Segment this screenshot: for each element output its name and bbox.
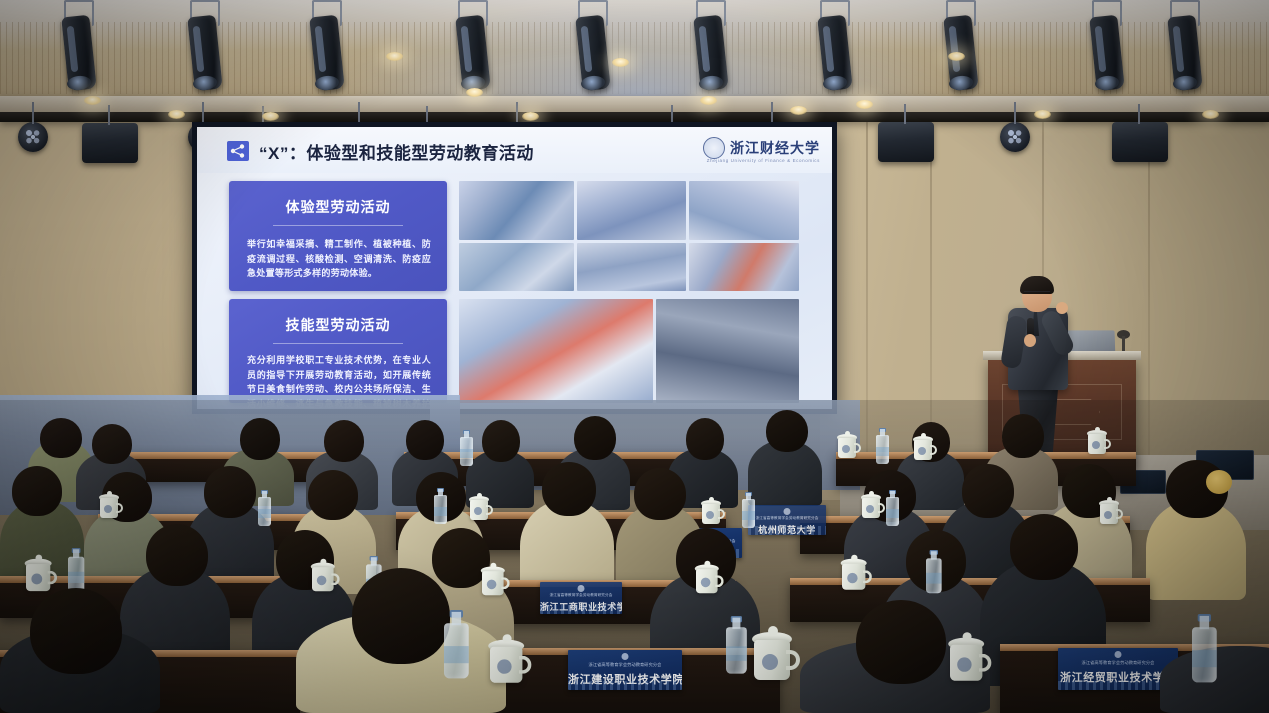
plate-skyline-graphic [540, 605, 622, 614]
water-bottle [742, 492, 755, 528]
speaker-hand [1024, 334, 1036, 347]
audience-head [406, 420, 444, 460]
slide-card-experiential: 体验型劳动活动 举行如幸福采摘、精工制作、植被种植、防疫流调过程、核酸检测、空调… [229, 181, 447, 291]
stage-spotlight-icon [456, 0, 490, 92]
stage-spotlight-icon [694, 0, 728, 92]
stage-spotlight-icon [310, 0, 344, 92]
tea-cup-foreground [490, 636, 530, 683]
audience-head [204, 466, 256, 518]
card-title: 技能型劳动活动 [229, 315, 447, 335]
slide-title: “X”：体验型和技能型劳动教育活动 [259, 139, 534, 164]
presentation-slide: “X”：体验型和技能型劳动教育活动 浙江财经大学 Zhejiang Univer… [197, 127, 832, 409]
tea-cup [914, 434, 936, 460]
slide-photo [459, 299, 653, 403]
audience-head [92, 424, 132, 464]
stage-spotlight-icon [188, 0, 222, 92]
water-bottle-foreground [444, 610, 469, 678]
ceiling-downlight-icon [168, 110, 185, 119]
tea-cup [482, 564, 508, 595]
slide-photo [459, 243, 574, 291]
university-logo: 浙江财经大学 [703, 137, 820, 159]
plate-seal-icon [622, 653, 629, 660]
stage-spotlight-icon [62, 0, 96, 92]
fresnel-light-icon [878, 122, 934, 162]
card-body: 举行如幸福采摘、精工制作、植被种植、防疫流调过程、核酸检测、空调清洗、防疫应急处… [247, 237, 431, 281]
name-plate-zj-construction: 浙江省高等教育学会劳动教育研究分会 浙江建设职业技术学院 [568, 650, 682, 690]
audience-head [1002, 414, 1044, 458]
tea-cup [100, 492, 122, 518]
fresnel-light-icon [82, 123, 138, 163]
water-bottle [434, 488, 447, 524]
plate-skyline-graphic [568, 681, 682, 690]
ceiling-downlight-icon [948, 52, 965, 61]
tea-cup [26, 556, 56, 591]
plate-seal-icon [784, 508, 791, 515]
speaker-hand [1056, 302, 1068, 314]
audience-head [482, 420, 520, 462]
audience-head [574, 416, 616, 460]
fresnel-light-icon [1112, 122, 1168, 162]
audience-head [856, 600, 946, 684]
audience-head [30, 588, 122, 674]
plate-org-small: 浙江省高等教育学会劳动教育研究分会 [1058, 660, 1178, 666]
audience-head [240, 418, 280, 460]
conference-photograph: “X”：体验型和技能型劳动教育活动 浙江财经大学 Zhejiang Univer… [0, 0, 1269, 713]
university-seal-icon [703, 137, 725, 159]
tea-cup [838, 432, 860, 458]
audience-head [40, 418, 82, 458]
tea-cup [696, 562, 722, 593]
projection-screen: “X”：体验型和技能型劳动教育活动 浙江财经大学 Zhejiang Univer… [192, 122, 837, 414]
audience-head [12, 466, 62, 516]
stage-spotlight-icon [576, 0, 610, 92]
ceiling-downlight-icon [1034, 110, 1051, 119]
plate-org-small: 浙江省高等教育学会劳动教育研究分会 [748, 516, 826, 521]
share-network-icon [227, 141, 249, 161]
water-bottle [876, 428, 889, 464]
tea-cup [1100, 498, 1122, 524]
plate-seal-icon [1115, 651, 1122, 658]
audience-head [1010, 514, 1078, 580]
water-bottle-foreground [1192, 614, 1217, 682]
ceiling-downlight-icon [262, 112, 279, 121]
audience-head [542, 462, 596, 516]
audience-head [352, 568, 450, 664]
ceiling-downlight-icon [700, 96, 717, 105]
photo-collage-skill [459, 299, 799, 403]
ceiling-downlight-icon [522, 112, 539, 121]
audience-head [146, 524, 208, 586]
water-bottle [886, 490, 899, 526]
water-bottle [460, 430, 473, 466]
speaker-glasses-icon [1024, 291, 1050, 296]
ceiling-downlight-icon [84, 96, 101, 105]
slide-photo [656, 299, 799, 403]
stage-spotlight-icon [818, 0, 852, 92]
name-plate: 浙江省高等教育学会劳动教育研究分会 杭州师范大学 [748, 505, 826, 535]
audience-head [324, 420, 364, 462]
slide-photo [689, 243, 799, 291]
tea-cup [312, 560, 338, 591]
ceiling-downlight-icon [466, 88, 483, 97]
ceiling-downlight-icon [612, 58, 629, 67]
plate-org-small: 浙江省高等教育学会劳动教育研究分会 [540, 593, 622, 598]
water-bottle [926, 550, 942, 593]
water-bottle [68, 548, 84, 593]
audience-head [686, 418, 724, 460]
audience-head [766, 410, 808, 452]
plate-skyline-graphic [748, 526, 826, 535]
water-bottle-foreground [726, 616, 747, 674]
ceiling-downlight-icon [386, 52, 403, 61]
audience-head [962, 464, 1014, 518]
stage-spotlight-icon [1168, 0, 1202, 92]
university-name: 浙江财经大学 [730, 138, 820, 158]
tea-cup [862, 492, 884, 518]
slide-photo [459, 181, 574, 240]
card-divider [273, 225, 404, 226]
tea-cup [842, 556, 871, 590]
tea-cup [470, 494, 492, 520]
audience-head [308, 470, 358, 520]
tea-cup [1088, 428, 1110, 454]
tea-cup-foreground [950, 634, 990, 681]
plate-seal-icon [578, 585, 585, 592]
lighting-truss [0, 112, 1269, 122]
slide-photo [577, 181, 687, 240]
par-led-light-icon [18, 122, 48, 152]
stage-spotlight-icon [1090, 0, 1124, 92]
audience-head [634, 468, 686, 520]
tea-cup-foreground [754, 628, 798, 680]
name-plate: 浙江省高等教育学会劳动教育研究分会 浙江工商职业技术学院 [540, 582, 622, 614]
slide-photo [689, 181, 799, 240]
slide-card-skill: 技能型劳动活动 充分利用学校职工专业技术优势，在专业人员的指导下开展劳动教育活动… [229, 299, 447, 403]
university-subtitle: Zhejiang University of Finance & Economi… [707, 158, 820, 163]
card-title: 体验型劳动活动 [229, 197, 447, 217]
par-led-light-icon [1000, 122, 1030, 152]
slide-photo [577, 243, 687, 291]
plate-org-small: 浙江省高等教育学会劳动教育研究分会 [568, 662, 682, 668]
ceiling-downlight-icon [1202, 110, 1219, 119]
hair-flower-accessory-icon [1206, 470, 1232, 494]
stage-spotlight-icon [944, 0, 978, 92]
water-bottle [258, 490, 271, 526]
card-divider [273, 343, 404, 344]
ceiling-downlight-icon [856, 100, 873, 109]
photo-collage-experiential [459, 181, 799, 291]
tea-cup [702, 498, 724, 524]
ceiling-downlight-icon [790, 106, 807, 115]
